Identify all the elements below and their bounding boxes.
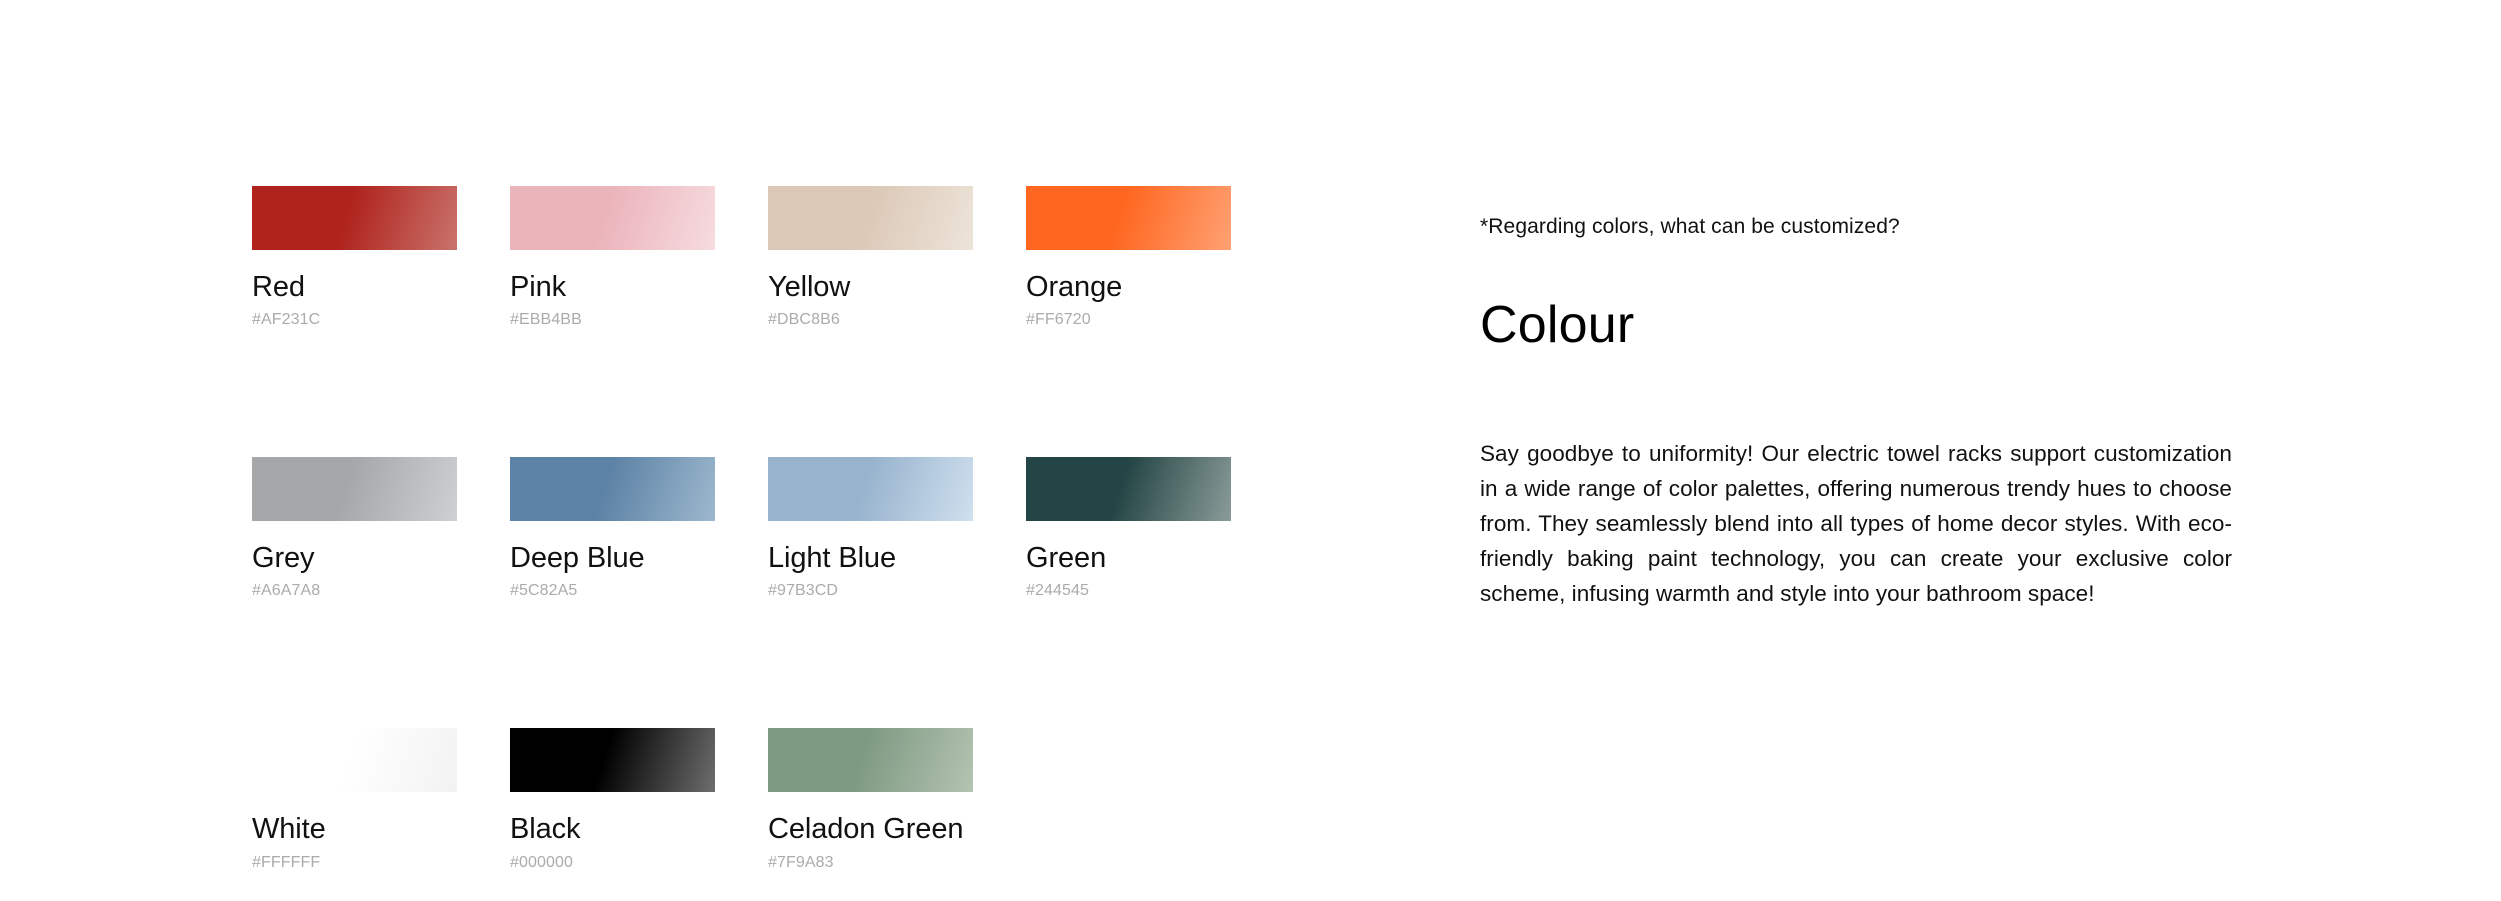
swatch-colour-chip[interactable] xyxy=(510,186,715,250)
swatch-hex-label: #A6A7A8 xyxy=(252,582,457,600)
swatch-colour-chip[interactable] xyxy=(768,728,973,792)
swatch-hex-label: #5C82A5 xyxy=(510,582,715,600)
swatch-cell[interactable]: Pink#EBB4BB xyxy=(510,186,715,329)
swatch-hex-label: #7F9A83 xyxy=(768,854,973,872)
swatch-colour-chip[interactable] xyxy=(768,457,973,521)
swatch-hex-label: #EBB4BB xyxy=(510,311,715,329)
swatch-name-label: Black xyxy=(510,814,715,844)
swatch-cell[interactable]: Black#000000 xyxy=(510,728,715,871)
swatch-hex-label: #FFFFFF xyxy=(252,854,457,872)
swatch-cell[interactable]: Yellow#DBC8B6 xyxy=(768,186,973,329)
swatch-colour-chip[interactable] xyxy=(768,186,973,250)
swatch-cell[interactable]: Celadon Green#7F9A83 xyxy=(768,728,973,871)
swatch-name-label: Celadon Green xyxy=(768,814,973,844)
swatch-colour-chip[interactable] xyxy=(1026,457,1231,521)
page-title: Colour xyxy=(1480,297,1634,354)
swatch-cell[interactable]: White#FFFFFF xyxy=(252,728,457,871)
colour-swatch-panel: Red#AF231CPink#EBB4BBYellow#DBC8B6Orange… xyxy=(252,186,1252,871)
swatch-name-label: Orange xyxy=(1026,272,1231,302)
swatch-colour-chip[interactable] xyxy=(252,186,457,250)
swatch-cell[interactable]: Orange#FF6720 xyxy=(1026,186,1231,329)
swatch-cell[interactable]: Red#AF231C xyxy=(252,186,457,329)
swatch-name-label: Red xyxy=(252,272,457,302)
swatch-name-label: Yellow xyxy=(768,272,973,302)
swatch-colour-chip[interactable] xyxy=(1026,186,1231,250)
swatch-colour-chip[interactable] xyxy=(252,457,457,521)
swatch-hex-label: #AF231C xyxy=(252,311,457,329)
swatch-name-label: Light Blue xyxy=(768,543,973,573)
swatch-cell[interactable]: Deep Blue#5C82A5 xyxy=(510,457,715,600)
eyebrow-question: *Regarding colors, what can be customize… xyxy=(1480,213,2232,240)
swatch-cell[interactable]: Light Blue#97B3CD xyxy=(768,457,973,600)
body-paragraph: Say goodbye to uniformity! Our electric … xyxy=(1480,436,2232,611)
swatch-name-label: Grey xyxy=(252,543,457,573)
swatch-colour-chip[interactable] xyxy=(256,728,457,792)
swatch-hex-label: #FF6720 xyxy=(1026,311,1231,329)
swatch-cell[interactable]: Green#244545 xyxy=(1026,457,1231,600)
swatch-name-label: White xyxy=(252,814,457,844)
swatch-hex-label: #97B3CD xyxy=(768,582,973,600)
swatch-cell[interactable]: Grey#A6A7A8 xyxy=(252,457,457,600)
swatch-colour-chip[interactable] xyxy=(510,457,715,521)
swatch-hex-label: #000000 xyxy=(510,854,715,872)
swatch-hex-label: #244545 xyxy=(1026,582,1231,600)
colour-copy-panel: *Regarding colors, what can be customize… xyxy=(1480,213,2232,240)
swatch-colour-chip[interactable] xyxy=(510,728,715,792)
swatch-name-label: Green xyxy=(1026,543,1231,573)
swatch-name-label: Deep Blue xyxy=(510,543,715,573)
swatch-name-label: Pink xyxy=(510,272,715,302)
colour-swatch-grid: Red#AF231CPink#EBB4BBYellow#DBC8B6Orange… xyxy=(252,186,1252,871)
swatch-hex-label: #DBC8B6 xyxy=(768,311,973,329)
